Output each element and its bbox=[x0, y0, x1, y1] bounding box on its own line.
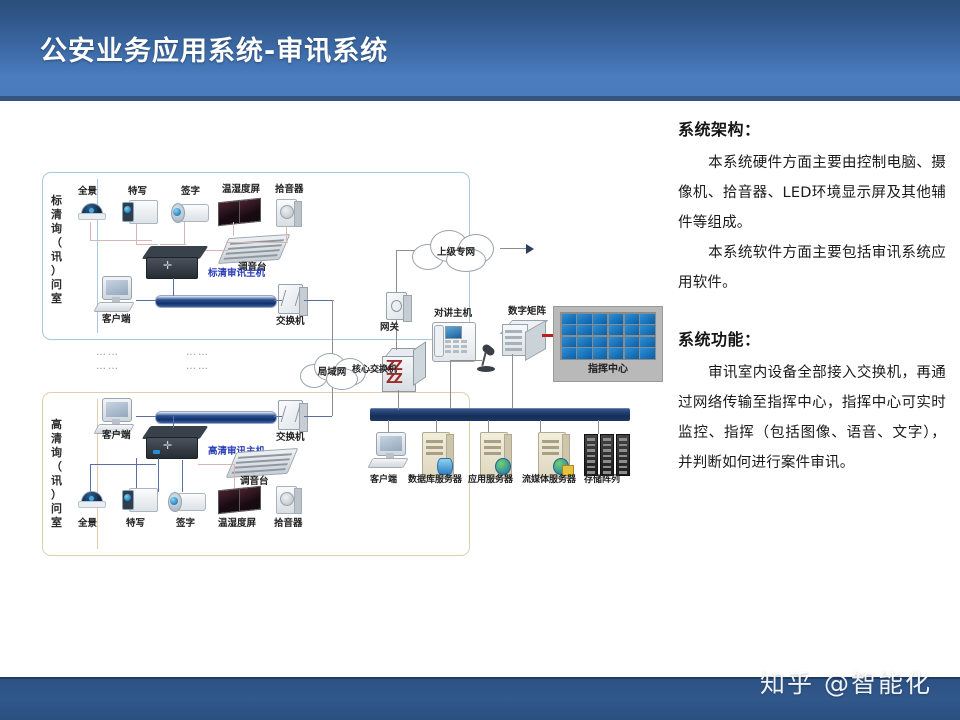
sd-switch-to-lan bbox=[304, 300, 332, 301]
server-label-storage: 存储阵列 bbox=[584, 474, 620, 486]
watermark-label: 知乎 @智能化 bbox=[760, 668, 932, 700]
sd-panorama-camera-icon bbox=[78, 202, 104, 220]
page-title: 公安业务应用系统-审讯系统 bbox=[40, 36, 388, 68]
hd-client-label: 客户端 bbox=[102, 430, 131, 442]
hd-panorama-camera-icon bbox=[78, 490, 104, 508]
hd-switch-label: 交换机 bbox=[276, 432, 305, 444]
video-wall-grid bbox=[560, 312, 656, 360]
sd-pc-to-bus bbox=[136, 300, 156, 301]
hd-wire-panorama-h bbox=[90, 464, 156, 465]
section-function-heading: 系统功能： bbox=[678, 328, 946, 352]
matrix-to-backbone bbox=[512, 354, 513, 408]
hd-device-label-closeup: 特写 bbox=[126, 518, 145, 530]
sd-device-label-pickup: 拾音器 bbox=[275, 184, 304, 196]
intercom-microphone-icon bbox=[476, 346, 496, 372]
digital-matrix-label: 数字矩阵 bbox=[508, 306, 546, 318]
upstream-cloud-label: 上级专网 bbox=[410, 244, 502, 258]
section-architecture: 系统架构： 本系统硬件方面主要由控制电脑、摄像机、拾音器、LED环境显示屏及其他… bbox=[678, 118, 946, 298]
hd-device-label-pickup: 拾音器 bbox=[274, 518, 303, 530]
sd-wire-panorama-h bbox=[90, 240, 152, 241]
section-function: 系统功能： 审讯室内设备全部接入交换机，再通过网络传输至指挥中心，指挥中心可实时… bbox=[678, 328, 946, 478]
hd-signature-camera-icon bbox=[168, 492, 204, 510]
sd-temp-humidity-screen-icon bbox=[218, 198, 260, 224]
upstream-network-cloud: 上级专网 bbox=[410, 228, 502, 272]
section-function-paragraph-1: 审讯室内设备全部接入交换机，再通过网络传输至指挥中心，指挥中心可实时监控、指挥（… bbox=[678, 358, 946, 478]
sd-device-label-signature: 签字 bbox=[181, 186, 200, 198]
sd-hd-ellipsis-3: …… bbox=[186, 348, 210, 357]
hd-wire-screen-h bbox=[198, 464, 234, 465]
sd-switch-icon bbox=[278, 284, 306, 314]
core-network-backbone bbox=[370, 408, 630, 421]
sd-wire-pickup bbox=[286, 226, 287, 242]
hd-wire-sign2-v bbox=[182, 460, 183, 492]
server-label-application: 应用服务器 bbox=[468, 474, 513, 486]
section-spacer bbox=[678, 298, 946, 328]
database-server-icon bbox=[422, 432, 452, 476]
sd-wire-panorama bbox=[90, 222, 91, 240]
sd-wire-screen bbox=[233, 222, 234, 236]
intercom-to-backbone bbox=[450, 360, 451, 408]
hd-switch-icon bbox=[278, 400, 306, 430]
hd-device-label-panorama: 全景 bbox=[78, 518, 97, 530]
hd-host-to-bus bbox=[173, 416, 174, 428]
section-architecture-heading: 系统架构： bbox=[678, 118, 946, 142]
hd-room-label: 高清询（讯）问室 bbox=[44, 418, 70, 530]
sd-device-label-closeup: 特写 bbox=[128, 186, 147, 198]
hd-switch-to-lan bbox=[304, 416, 332, 417]
core-switch-to-backbone bbox=[398, 390, 399, 410]
sd-client-label: 客户端 bbox=[102, 314, 131, 326]
section-architecture-paragraph-1: 本系统硬件方面主要由控制电脑、摄像机、拾音器、LED环境显示屏及其他辅件等组成。 bbox=[678, 148, 946, 238]
server-row-client-pc-icon bbox=[370, 432, 412, 468]
slide-root: 公安业务应用系统-审讯系统 系统架构： 本系统硬件方面主要由控制电脑、摄像机、拾… bbox=[0, 0, 960, 720]
hd-pc-to-bus bbox=[136, 416, 156, 417]
intercom-host-icon bbox=[432, 322, 474, 360]
core-switch-label-line1: 核心交换机 bbox=[352, 364, 397, 376]
intercom-to-mic bbox=[450, 360, 482, 361]
sd-closeup-camera-icon bbox=[122, 200, 156, 222]
digital-matrix-icon bbox=[502, 320, 544, 354]
wan-out-arrow-icon bbox=[526, 244, 534, 254]
server-label-database: 数据库服务器 bbox=[408, 474, 462, 486]
sd-client-pc-icon bbox=[96, 276, 138, 312]
sd-device-label-temp-screen: 温湿度屏 bbox=[222, 184, 260, 196]
sd-hd-ellipsis-4: …… bbox=[186, 362, 210, 371]
gateway-to-wan bbox=[396, 250, 397, 292]
text-panel: 系统架构： 本系统硬件方面主要由控制电脑、摄像机、拾音器、LED环境显示屏及其他… bbox=[678, 118, 946, 478]
hd-wire-signature-v bbox=[158, 458, 159, 492]
server-label-streaming: 流媒体服务器 bbox=[522, 474, 576, 486]
sd-wire-pickup-h bbox=[226, 242, 288, 243]
gateway-label: 网关 bbox=[380, 322, 399, 334]
hd-client-pc-icon bbox=[96, 398, 138, 434]
sd-switch-label: 交换机 bbox=[276, 316, 305, 328]
gateway-icon bbox=[386, 292, 410, 320]
sd-wire-closeup bbox=[136, 224, 137, 244]
architecture-diagram: 标清询（讯）问室 全景 特写 签字 温湿度屏 拾音器 调音台 bbox=[18, 168, 668, 558]
hd-wire-closeup-v bbox=[136, 458, 137, 492]
application-server-icon bbox=[480, 432, 510, 476]
sd-lan-bus bbox=[155, 295, 277, 308]
streaming-media-server-icon bbox=[538, 432, 568, 476]
intercom-host-label: 对讲主机 bbox=[434, 308, 472, 320]
hd-device-label-temp-screen: 温湿度屏 bbox=[218, 518, 256, 530]
storage-array-icon bbox=[584, 434, 630, 476]
section-architecture-paragraph-2: 本系统软件方面主要包括审讯系统应用软件。 bbox=[678, 238, 946, 298]
sd-interrogation-host-icon: ✛ bbox=[146, 246, 204, 278]
hd-bus-to-switch bbox=[274, 416, 282, 417]
command-center-video-wall: 指挥中心 bbox=[553, 306, 663, 382]
sd-signature-camera-icon bbox=[171, 203, 207, 221]
hd-wire-screen-v bbox=[234, 464, 235, 488]
sd-host-to-bus bbox=[173, 278, 174, 296]
hd-temp-humidity-screen-icon bbox=[218, 486, 260, 512]
sd-bus-to-switch bbox=[274, 300, 282, 301]
backbone-drop-5 bbox=[598, 420, 599, 434]
sd-hd-ellipsis-2: …… bbox=[96, 362, 120, 371]
hd-interrogation-host-icon: ✛ bbox=[146, 426, 204, 458]
sd-hd-ellipsis-1: …… bbox=[96, 348, 120, 357]
sd-device-label-panorama: 全景 bbox=[78, 186, 97, 198]
hd-pickup-speaker-icon bbox=[276, 486, 300, 512]
hd-closeup-camera-icon bbox=[122, 488, 156, 510]
server-label-client: 客户端 bbox=[370, 474, 397, 486]
sd-wire-signature bbox=[184, 222, 185, 244]
sd-room-label: 标清询（讯）问室 bbox=[44, 194, 70, 306]
hd-device-label-signature: 签字 bbox=[176, 518, 195, 530]
command-center-label: 指挥中心 bbox=[554, 362, 662, 378]
sd-host-label-line1: 标清审讯主机 bbox=[208, 268, 265, 280]
hd-wire-panorama-v bbox=[90, 464, 91, 492]
sd-pickup-speaker-icon bbox=[276, 199, 300, 225]
header-underline bbox=[0, 96, 960, 101]
